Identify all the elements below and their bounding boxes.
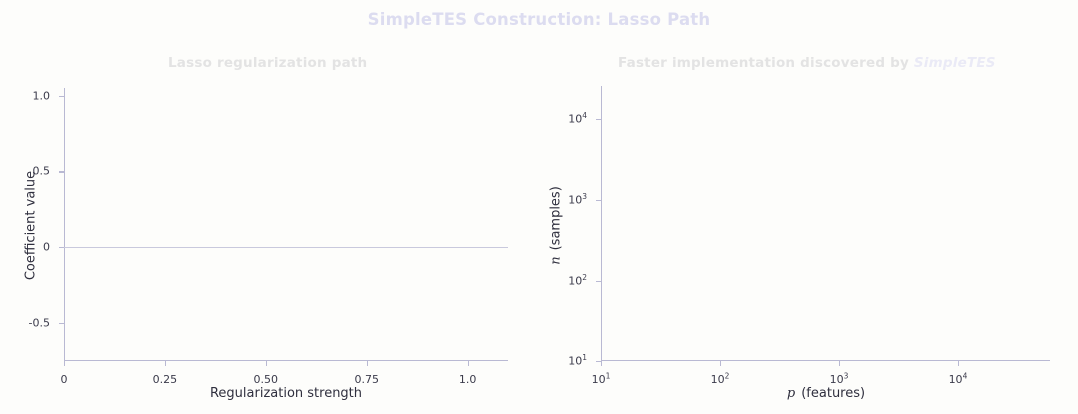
right-x-axis-label-text: (features) bbox=[801, 386, 865, 401]
right-x-ticklabel-2: 102 bbox=[711, 373, 730, 386]
right-subplot-title-brand: SimpleTES bbox=[914, 55, 996, 71]
right-x-tick-1: 101 bbox=[601, 361, 602, 366]
left-x-axis-label: Regularization strength bbox=[210, 386, 362, 401]
right-y-ticklabel-3: 102 bbox=[568, 275, 587, 288]
right-subplot: Faster implementation discovered by Simp… bbox=[540, 0, 1078, 414]
right-y-axis-spine bbox=[601, 86, 602, 361]
right-x-ticklabel-3: 103 bbox=[830, 373, 849, 386]
left-y-ticklabel-3: 0 bbox=[43, 241, 50, 254]
right-x-ticklabel-4: 104 bbox=[949, 373, 968, 386]
left-y-tick-3: 0 bbox=[59, 247, 64, 248]
left-x-ticklabel-5: 1.0 bbox=[459, 373, 477, 386]
left-x-ticklabel-1: 0 bbox=[61, 373, 68, 386]
left-subplot: Lasso regularization path 1.0 0.5 0 -0.5… bbox=[0, 0, 540, 414]
right-y-axis-label-symbol: n bbox=[549, 256, 564, 264]
left-y-ticklabel-4: -0.5 bbox=[29, 317, 50, 330]
right-y-tick-2: 103 bbox=[596, 200, 601, 201]
right-x-axis-label: p(features) bbox=[787, 386, 865, 401]
zero-reference-line bbox=[64, 247, 508, 248]
right-x-axis-spine bbox=[601, 360, 1050, 361]
left-x-tick-4: 0.75 bbox=[367, 361, 368, 366]
left-y-axis-spine bbox=[64, 88, 65, 361]
left-x-tick-5: 1.0 bbox=[468, 361, 469, 366]
right-x-tick-2: 102 bbox=[720, 361, 721, 366]
right-y-axis-label: n(samples) bbox=[549, 166, 564, 286]
right-y-ticklabel-4: 101 bbox=[568, 355, 587, 368]
left-x-ticklabel-4: 0.75 bbox=[354, 373, 379, 386]
left-y-ticklabel-1: 1.0 bbox=[33, 89, 51, 102]
left-plot-area: 1.0 0.5 0 -0.5 0 0.25 0.50 0.75 1.0 bbox=[64, 88, 508, 361]
left-x-tick-3: 0.50 bbox=[266, 361, 267, 366]
right-x-tick-3: 103 bbox=[839, 361, 840, 366]
left-x-ticklabel-3: 0.50 bbox=[254, 373, 279, 386]
right-y-ticklabel-2: 103 bbox=[568, 194, 587, 207]
left-y-tick-4: -0.5 bbox=[59, 323, 64, 324]
left-x-axis-spine bbox=[64, 360, 508, 361]
right-y-axis-label-text: (samples) bbox=[549, 186, 564, 250]
right-y-tick-1: 104 bbox=[596, 119, 601, 120]
right-y-ticklabel-1: 104 bbox=[568, 113, 587, 126]
right-x-tick-4: 104 bbox=[958, 361, 959, 366]
left-y-axis-label: Coefficient value bbox=[24, 166, 39, 286]
right-subplot-title: Faster implementation discovered by Simp… bbox=[618, 55, 996, 71]
right-y-tick-3: 102 bbox=[596, 281, 601, 282]
right-plot-area: 104 103 102 101 101 102 bbox=[601, 86, 1050, 361]
left-x-tick-2: 0.25 bbox=[165, 361, 166, 366]
left-x-tick-1: 0 bbox=[64, 361, 65, 366]
right-x-ticklabel-1: 101 bbox=[592, 373, 611, 386]
right-subplot-title-text: Faster implementation discovered by bbox=[618, 55, 909, 71]
left-y-tick-2: 0.5 bbox=[59, 171, 64, 172]
left-x-ticklabel-2: 0.25 bbox=[153, 373, 178, 386]
right-x-axis-label-symbol: p bbox=[787, 386, 795, 401]
left-subplot-title: Lasso regularization path bbox=[168, 55, 367, 71]
left-y-tick-1: 1.0 bbox=[59, 96, 64, 97]
